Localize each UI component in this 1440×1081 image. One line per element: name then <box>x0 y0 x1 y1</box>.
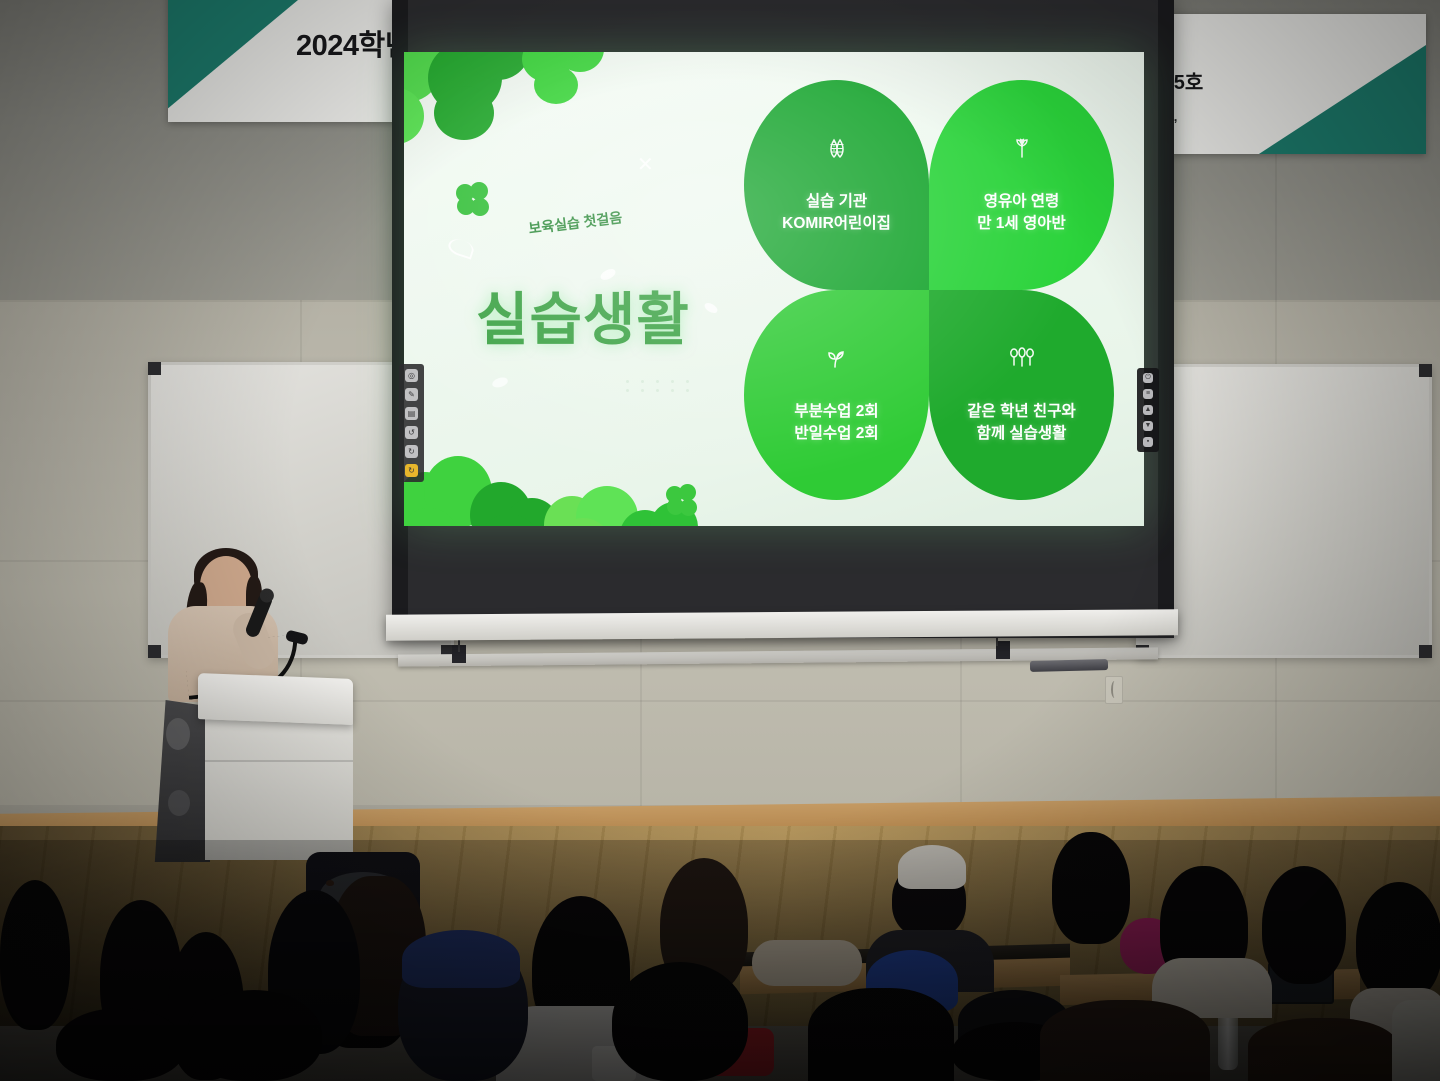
menu-icon[interactable]: ≡ <box>1143 389 1153 399</box>
redo-icon[interactable]: ↻ <box>405 445 418 458</box>
podium-front <box>205 712 353 860</box>
petal-decor <box>491 376 509 390</box>
petal-line2: KOMIR어린이집 <box>782 213 891 235</box>
down-icon[interactable]: ▼ <box>1143 421 1153 431</box>
projector-toolbar-left[interactable]: ◎ ✎ ▤ ↺ ↻ ↻ <box>399 364 424 482</box>
shapes-icon[interactable]: ▤ <box>405 407 418 420</box>
clover-quadrant-group: 실습 기관 KOMIR어린이집 영유아 연령 만 1세 영아반 <box>744 80 1114 500</box>
clover-decor-small-left <box>456 182 492 218</box>
dot-grid-decor <box>626 380 695 392</box>
pen-icon[interactable]: ✎ <box>405 388 418 401</box>
seedling-icon <box>824 345 850 375</box>
petal-card-top-right: 영유아 연령 만 1세 영아반 <box>929 80 1114 290</box>
swirl-decor <box>446 236 476 259</box>
petal-line2: 반일수업 2회 <box>794 423 878 445</box>
petal-line2: 함께 실습생활 <box>977 423 1067 445</box>
podium-knob <box>166 718 190 750</box>
clover-decor-small-bottom <box>666 484 700 518</box>
screen-bottom-weight-bar <box>386 609 1178 641</box>
clover-decor-top-left <box>404 52 604 152</box>
podium-knob <box>168 790 190 816</box>
projector-toolbar-right[interactable]: ⏻ ≡ ▲ ▼ ▪ <box>1137 368 1159 452</box>
petal-card-bottom-left: 부분수업 2회 반일수업 2회 <box>744 290 929 500</box>
up-icon[interactable]: ▲ <box>1143 405 1153 415</box>
petal-line2: 만 1세 영아반 <box>977 213 1066 235</box>
audience-shadow-overlay <box>0 840 1440 1081</box>
petal-card-bottom-right: 같은 학년 친구와 함께 실습생활 <box>929 290 1114 500</box>
arch-text: 보육실습 첫걸음 <box>527 207 623 238</box>
whiteboard-right <box>1136 364 1432 658</box>
whiteboard-marker[interactable] <box>1030 659 1108 672</box>
power-icon[interactable]: ⏻ <box>1143 373 1153 383</box>
two-leaves-icon <box>824 135 850 165</box>
refresh-icon[interactable]: ↻ <box>405 464 418 477</box>
slide-title: 실습생활 <box>476 274 690 356</box>
three-trees-icon <box>1008 345 1036 375</box>
undo-icon[interactable]: ↺ <box>405 426 418 439</box>
projected-slide: ✕ 보육실습 첫걸음 실습생활 <box>404 52 1144 526</box>
petal-line1: 같은 학년 친구와 <box>967 401 1075 423</box>
petal-line1: 부분수업 2회 <box>794 401 878 423</box>
petal-card-top-left: 실습 기관 KOMIR어린이집 <box>744 80 929 290</box>
podium-seam <box>205 760 353 762</box>
banner-left: 2024학년 <box>168 0 418 122</box>
cursor-icon[interactable]: ◎ <box>405 369 418 382</box>
podium-desktop <box>198 673 353 725</box>
ok-icon[interactable]: ▪ <box>1143 437 1153 447</box>
slide-arch-subtitle: 보육실습 첫걸음 <box>524 198 724 244</box>
sparkle-icon: ✕ <box>637 152 654 177</box>
screenshot-root: 2024학년 일(화) W6 105호 책전문위원, 나 리아 상무 <box>0 0 1440 1081</box>
sprout-plant-icon <box>1009 135 1035 165</box>
petal-line1: 실습 기관 <box>806 191 867 213</box>
power-outlet <box>1105 676 1123 704</box>
petal-line1: 영유아 연령 <box>984 191 1060 213</box>
petal-decor <box>703 301 719 315</box>
